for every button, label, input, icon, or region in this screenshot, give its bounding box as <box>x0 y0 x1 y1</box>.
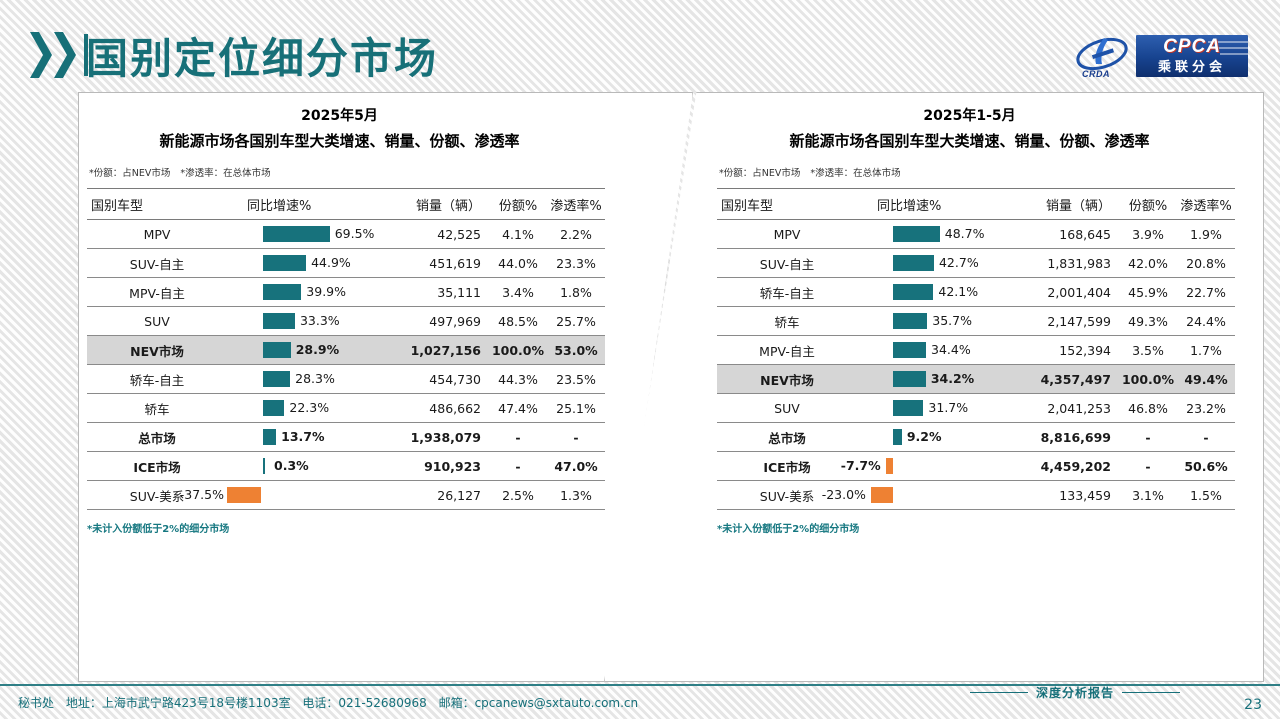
note-share: *份额：占NEV市场 <box>89 168 170 179</box>
cell-growth-bar: 34.4% <box>871 336 1027 365</box>
data-table-jan-may: 国别车型 同比增速% 销量（辆） 份额% 渗透率% MPV48.7%168,64… <box>717 188 1235 510</box>
cell-volume: 2,147,599 <box>1027 307 1119 336</box>
cell-category: NEV市场 <box>717 365 871 394</box>
bar-positive <box>893 284 933 300</box>
cell-share: - <box>489 423 547 452</box>
cell-volume: 35,111 <box>397 278 489 307</box>
cpca-wordmark: CPCA 乘联分会 <box>1136 35 1248 77</box>
col-header-name: 国别车型 <box>87 189 241 220</box>
col-header-growth: 同比增速% <box>871 189 1027 220</box>
table-row: ICE市场-7.7%4,459,202-50.6% <box>717 452 1235 481</box>
panel-may-2025: 2025年5月 新能源市场各国别车型大类增速、销量、份额、渗透率 *份额：占NE… <box>78 92 693 682</box>
table-footnote-right: *未计入份额低于2%的细分市场 <box>717 520 1222 535</box>
cell-growth-bar: -23.0% <box>871 481 1027 510</box>
cell-penetration: 25.1% <box>547 394 605 423</box>
cell-share: 3.5% <box>1119 336 1177 365</box>
cell-volume: 2,001,404 <box>1027 278 1119 307</box>
cell-penetration: 22.7% <box>1177 278 1235 307</box>
bar-positive <box>263 284 301 300</box>
table-note-left: *份额：占NEV市场*渗透率：在总体市场 <box>89 165 592 179</box>
cell-penetration: 23.5% <box>547 365 605 394</box>
table-row: MPV-自主39.9%35,1113.4%1.8% <box>87 278 605 307</box>
cell-share: - <box>489 452 547 481</box>
table-row: MPV48.7%168,6453.9%1.9% <box>717 220 1235 249</box>
cpca-text: CPCA <box>1136 36 1248 58</box>
bar-positive <box>893 313 927 329</box>
cell-penetration: 1.9% <box>1177 220 1235 249</box>
cell-share: 3.1% <box>1119 481 1177 510</box>
table-row: MPV-自主34.4%152,3943.5%1.7% <box>717 336 1235 365</box>
cell-category: MPV-自主 <box>87 278 241 307</box>
cell-volume: 910,923 <box>397 452 489 481</box>
cell-penetration: 53.0% <box>547 336 605 365</box>
cell-category: ICE市场 <box>87 452 241 481</box>
table-row: 轿车-自主42.1%2,001,40445.9%22.7% <box>717 278 1235 307</box>
cell-volume: 4,357,497 <box>1027 365 1119 394</box>
cell-share: 47.4% <box>489 394 547 423</box>
bar-value-label: -37.5% <box>180 487 224 503</box>
bar-value-label: 22.3% <box>289 400 329 416</box>
cell-growth-bar: 35.7% <box>871 307 1027 336</box>
cell-category: 轿车-自主 <box>87 365 241 394</box>
report-title: 深度分析报告 <box>1036 684 1114 701</box>
table-row: SUV-美系-37.5%26,1272.5%1.3% <box>87 481 605 510</box>
bar-value-label: 35.7% <box>932 313 972 329</box>
cell-volume: 454,730 <box>397 365 489 394</box>
page-number: 23 <box>1244 697 1262 713</box>
footer-email-label: 邮箱： <box>439 696 475 710</box>
cell-category: SUV-自主 <box>87 249 241 278</box>
cell-category: 总市场 <box>87 423 241 452</box>
bar-positive <box>893 342 926 358</box>
bar-negative <box>227 487 261 503</box>
cell-share: 100.0% <box>1119 365 1177 394</box>
bar-value-label: 31.7% <box>928 400 968 416</box>
table-row: ICE市场0.3%910,923-47.0% <box>87 452 605 481</box>
bar-value-label: 13.7% <box>281 429 324 445</box>
cell-penetration: 1.8% <box>547 278 605 307</box>
table-header-row: 国别车型 同比增速% 销量（辆） 份额% 渗透率% <box>717 189 1235 220</box>
bar-value-label: 28.9% <box>296 342 339 358</box>
cell-category: MPV <box>717 220 871 249</box>
cell-growth-bar: 0.3% <box>241 452 397 481</box>
table-row: NEV市场34.2%4,357,497100.0%49.4% <box>717 365 1235 394</box>
cell-growth-bar: 42.1% <box>871 278 1027 307</box>
cell-growth-bar: 48.7% <box>871 220 1027 249</box>
cpca-logo: CRDA CPCA 乘联分会 <box>1074 33 1248 79</box>
cell-penetration: 23.2% <box>1177 394 1235 423</box>
table-row: 轿车-自主28.3%454,73044.3%23.5% <box>87 365 605 394</box>
bar-value-label: 44.9% <box>311 255 351 271</box>
cell-volume: 486,662 <box>397 394 489 423</box>
cell-volume: 1,831,983 <box>1027 249 1119 278</box>
note-penetration: *渗透率：在总体市场 <box>810 168 900 179</box>
cell-growth-bar: 13.7% <box>241 423 397 452</box>
bar-positive <box>893 255 934 271</box>
title-line2: 新能源市场各国别车型大类增速、销量、份额、渗透率 <box>717 130 1222 151</box>
table-row: SUV-美系-23.0%133,4593.1%1.5% <box>717 481 1235 510</box>
table-note-right: *份额：占NEV市场*渗透率：在总体市场 <box>719 165 1222 179</box>
cell-growth-bar: 22.3% <box>241 394 397 423</box>
cell-category: SUV <box>87 307 241 336</box>
footer-report-label: 深度分析报告 <box>970 684 1180 701</box>
footer-address-label: 地址： <box>66 696 102 710</box>
bar-value-label: 34.4% <box>931 342 971 358</box>
footer-address: 上海市武宁路423号18号楼1103室 <box>102 696 291 710</box>
cell-penetration: 25.7% <box>547 307 605 336</box>
cell-volume: 1,027,156 <box>397 336 489 365</box>
table-row: SUV-自主42.7%1,831,98342.0%20.8% <box>717 249 1235 278</box>
panel-jan-may-2025: 2025年1-5月 新能源市场各国别车型大类增速、销量、份额、渗透率 *份额：占… <box>604 92 1264 682</box>
bar-value-label: 42.7% <box>939 255 979 271</box>
footer-line-right <box>1122 692 1180 694</box>
cell-share: 48.5% <box>489 307 547 336</box>
table-header-row: 国别车型 同比增速% 销量（辆） 份额% 渗透率% <box>87 189 605 220</box>
bar-value-label: 42.1% <box>938 284 978 300</box>
cell-growth-bar: 9.2% <box>871 423 1027 452</box>
col-header-volume: 销量（辆） <box>1027 189 1119 220</box>
note-penetration: *渗透率：在总体市场 <box>180 168 270 179</box>
cell-category: 轿车 <box>717 307 871 336</box>
cell-share: - <box>1119 452 1177 481</box>
cell-penetration: 23.3% <box>547 249 605 278</box>
cell-volume: 42,525 <box>397 220 489 249</box>
bar-positive <box>893 371 926 387</box>
cell-category: SUV-自主 <box>717 249 871 278</box>
bar-positive <box>263 255 306 271</box>
footer-phone: 021-52680968 <box>338 696 426 710</box>
table-row: 轿车35.7%2,147,59949.3%24.4% <box>717 307 1235 336</box>
cell-share: 2.5% <box>489 481 547 510</box>
double-chevron-right-icon <box>30 32 88 78</box>
cell-volume: 152,394 <box>1027 336 1119 365</box>
cell-growth-bar: 33.3% <box>241 307 397 336</box>
bar-value-label: -23.0% <box>822 487 866 503</box>
col-header-growth: 同比增速% <box>241 189 397 220</box>
cell-category: 总市场 <box>717 423 871 452</box>
bar-positive <box>893 226 940 242</box>
bar-positive <box>263 342 291 358</box>
cell-category: SUV <box>717 394 871 423</box>
cell-volume: 2,041,253 <box>1027 394 1119 423</box>
footer-secretariat: 秘书处 <box>18 696 54 710</box>
table-row: MPV69.5%42,5254.1%2.2% <box>87 220 605 249</box>
cell-penetration: 1.7% <box>1177 336 1235 365</box>
table-row: SUV33.3%497,96948.5%25.7% <box>87 307 605 336</box>
cell-category: 轿车-自主 <box>717 278 871 307</box>
cell-volume: 4,459,202 <box>1027 452 1119 481</box>
cell-share: - <box>1119 423 1177 452</box>
col-header-penetration: 渗透率% <box>547 189 605 220</box>
bar-negative <box>886 458 893 474</box>
title-line2: 新能源市场各国别车型大类增速、销量、份额、渗透率 <box>87 130 592 151</box>
cell-category: MPV-自主 <box>717 336 871 365</box>
bar-value-label: 28.3% <box>295 371 335 387</box>
cell-penetration: 50.6% <box>1177 452 1235 481</box>
crda-text: CRDA <box>1082 69 1110 79</box>
bar-value-label: 69.5% <box>335 226 375 242</box>
footer-email: cpcanews@sxtauto.com.cn <box>475 696 639 710</box>
cell-share: 100.0% <box>489 336 547 365</box>
cell-penetration: 1.5% <box>1177 481 1235 510</box>
cell-share: 4.1% <box>489 220 547 249</box>
cell-share: 3.9% <box>1119 220 1177 249</box>
table-row: NEV市场28.9%1,027,156100.0%53.0% <box>87 336 605 365</box>
bar-value-label: 9.2% <box>907 429 942 445</box>
data-table-may: 国别车型 同比增速% 销量（辆） 份额% 渗透率% MPV69.5%42,525… <box>87 188 605 510</box>
footer-phone-label: 电话： <box>302 696 338 710</box>
note-share: *份额：占NEV市场 <box>719 168 800 179</box>
bar-value-label: 48.7% <box>945 226 985 242</box>
bar-positive <box>263 458 265 474</box>
cell-share: 3.4% <box>489 278 547 307</box>
cell-penetration: 20.8% <box>1177 249 1235 278</box>
col-header-volume: 销量（辆） <box>397 189 489 220</box>
footer-contact: 秘书处 地址：上海市武宁路423号18号楼1103室 电话：021-526809… <box>18 694 638 711</box>
cell-growth-bar: -37.5% <box>241 481 397 510</box>
table-title-right: 2025年1-5月 新能源市场各国别车型大类增速、销量、份额、渗透率 <box>717 105 1222 151</box>
table-title-left: 2025年5月 新能源市场各国别车型大类增速、销量、份额、渗透率 <box>87 105 592 151</box>
bar-positive <box>263 400 284 416</box>
cell-growth-bar: -7.7% <box>871 452 1027 481</box>
col-header-name: 国别车型 <box>717 189 871 220</box>
bar-positive <box>893 400 923 416</box>
bar-positive <box>893 429 902 445</box>
cell-growth-bar: 34.2% <box>871 365 1027 394</box>
cell-growth-bar: 28.3% <box>241 365 397 394</box>
cell-growth-bar: 39.9% <box>241 278 397 307</box>
bar-value-label: 34.2% <box>931 371 974 387</box>
title-line1: 2025年5月 <box>87 105 592 125</box>
bar-positive <box>263 371 290 387</box>
cell-growth-bar: 44.9% <box>241 249 397 278</box>
cell-volume: 451,619 <box>397 249 489 278</box>
cell-share: 44.0% <box>489 249 547 278</box>
cell-growth-bar: 31.7% <box>871 394 1027 423</box>
bar-positive <box>263 429 276 445</box>
bar-value-label: 33.3% <box>300 313 340 329</box>
cell-penetration: - <box>1177 423 1235 452</box>
table-row: 总市场9.2%8,816,699-- <box>717 423 1235 452</box>
cpca-cn-text: 乘联分会 <box>1136 56 1248 75</box>
footer-line-left <box>970 692 1028 694</box>
cpca-swoosh-icon: CRDA <box>1074 34 1130 78</box>
cell-share: 45.9% <box>1119 278 1177 307</box>
slide-header: 国别定位细分市场 CRDA CPCA 乘联分会 <box>0 0 1280 92</box>
bar-positive <box>263 313 295 329</box>
cell-share: 42.0% <box>1119 249 1177 278</box>
table-footnote-left: *未计入份额低于2%的细分市场 <box>87 520 592 535</box>
cell-category: 轿车 <box>87 394 241 423</box>
cell-penetration: 24.4% <box>1177 307 1235 336</box>
cell-growth-bar: 42.7% <box>871 249 1027 278</box>
cell-volume: 1,938,079 <box>397 423 489 452</box>
table-row: 总市场13.7%1,938,079-- <box>87 423 605 452</box>
cell-penetration: 49.4% <box>1177 365 1235 394</box>
cell-volume: 168,645 <box>1027 220 1119 249</box>
cell-penetration: - <box>547 423 605 452</box>
cell-volume: 133,459 <box>1027 481 1119 510</box>
cell-growth-bar: 28.9% <box>241 336 397 365</box>
bar-value-label: -7.7% <box>841 458 881 474</box>
cell-category: NEV市场 <box>87 336 241 365</box>
cell-volume: 497,969 <box>397 307 489 336</box>
cell-penetration: 47.0% <box>547 452 605 481</box>
bar-value-label: 39.9% <box>306 284 346 300</box>
col-header-share: 份额% <box>1119 189 1177 220</box>
col-header-penetration: 渗透率% <box>1177 189 1235 220</box>
cell-penetration: 2.2% <box>547 220 605 249</box>
bar-negative <box>871 487 893 503</box>
bar-value-label: 0.3% <box>274 458 309 474</box>
cell-share: 49.3% <box>1119 307 1177 336</box>
col-header-share: 份额% <box>489 189 547 220</box>
cell-volume: 8,816,699 <box>1027 423 1119 452</box>
cell-share: 46.8% <box>1119 394 1177 423</box>
cell-penetration: 1.3% <box>547 481 605 510</box>
cell-category: MPV <box>87 220 241 249</box>
page-title: 国别定位细分市场 <box>86 25 438 86</box>
title-line1: 2025年1-5月 <box>717 105 1222 125</box>
table-row: SUV-自主44.9%451,61944.0%23.3% <box>87 249 605 278</box>
cell-growth-bar: 69.5% <box>241 220 397 249</box>
bar-positive <box>263 226 330 242</box>
cell-share: 44.3% <box>489 365 547 394</box>
table-row: SUV31.7%2,041,25346.8%23.2% <box>717 394 1235 423</box>
table-row: 轿车22.3%486,66247.4%25.1% <box>87 394 605 423</box>
cell-volume: 26,127 <box>397 481 489 510</box>
